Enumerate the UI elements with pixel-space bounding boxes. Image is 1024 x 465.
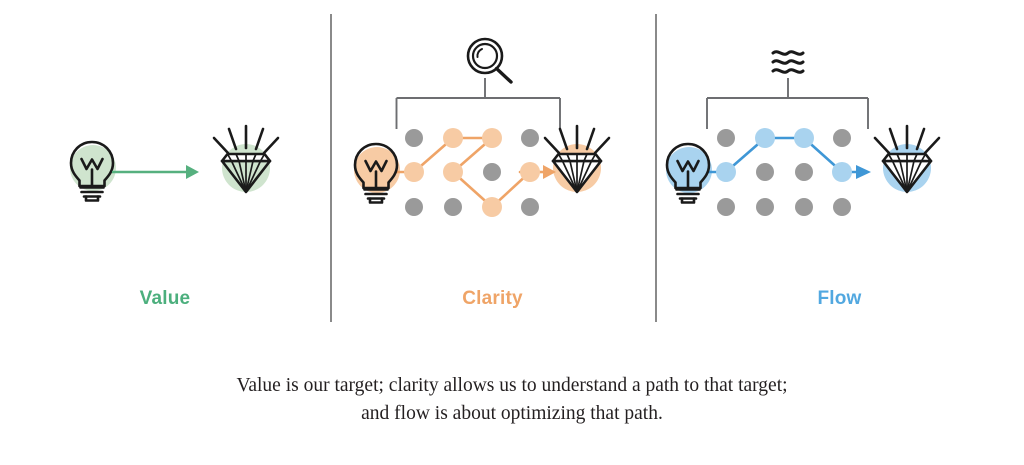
panel-clarity: Clarity — [330, 0, 655, 330]
panel-divider-1 — [330, 14, 332, 322]
clarity-stage — [330, 0, 655, 280]
waves-icon — [773, 52, 803, 73]
dot-grid — [717, 129, 851, 216]
panel-label-flow: Flow — [655, 288, 1024, 310]
bracket-connector — [707, 78, 868, 129]
caption-line-1: Value is our target; clarity allows us t… — [0, 372, 1024, 400]
caption: Value is our target; clarity allows us t… — [0, 372, 1024, 428]
flow-stage — [655, 0, 1024, 280]
sparkle-rays-icon — [875, 126, 939, 153]
caption-line-2: and flow is about optimizing that path. — [0, 400, 1024, 428]
panel-divider-2 — [655, 14, 657, 322]
bracket-connector — [397, 78, 561, 129]
sparkle-rays-icon — [214, 126, 278, 153]
panel-value: Value — [0, 0, 330, 330]
magnifier-icon — [468, 39, 511, 82]
value-arrow — [112, 165, 199, 179]
infographic-canvas: Value — [0, 0, 1024, 465]
value-stage — [0, 0, 330, 280]
panel-flow: Flow — [655, 0, 1024, 330]
panel-label-value: Value — [0, 288, 330, 310]
sparkle-rays-icon — [545, 126, 609, 153]
panel-label-clarity: Clarity — [330, 288, 655, 310]
